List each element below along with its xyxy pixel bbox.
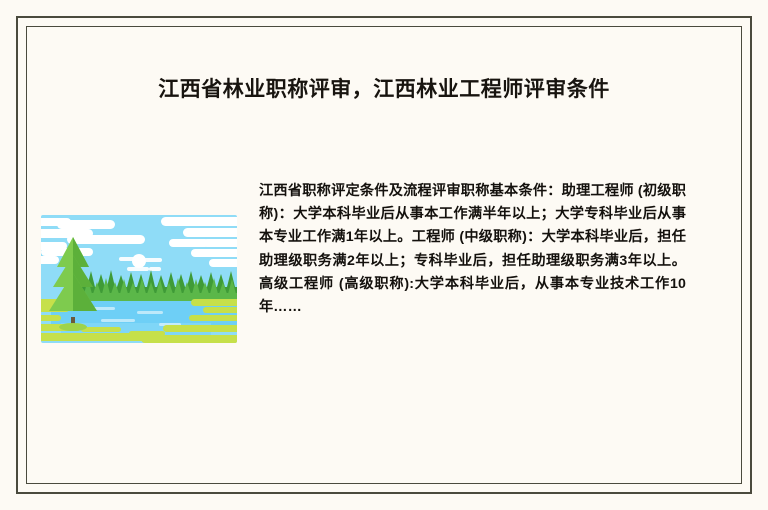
illustration-container	[26, 180, 251, 343]
article-body: 江西省职称评定条件及流程评审职称基本条件：助理工程师 (初级职称)：大学本科毕业…	[251, 180, 742, 319]
sun	[132, 254, 146, 268]
page-title: 江西省林业职称评审，江西林业工程师评审条件	[0, 75, 768, 105]
forest-lake-landscape-svg	[41, 215, 237, 343]
forest-lake-landscape-image	[41, 215, 237, 343]
article-page: 江西省林业职称评审，江西林业工程师评审条件	[0, 0, 768, 510]
article-content: 江西省职称评定条件及流程评审职称基本条件：助理工程师 (初级职称)：大学本科毕业…	[26, 180, 742, 410]
